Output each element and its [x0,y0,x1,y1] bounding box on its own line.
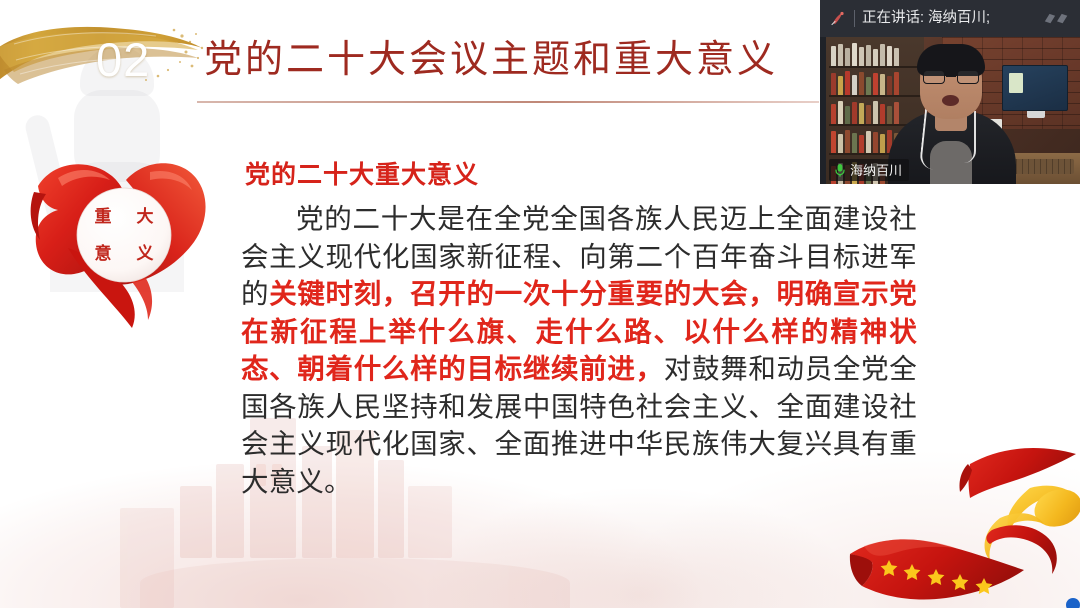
emblem-char-3: 意 [95,245,112,262]
video-call-overlay[interactable]: 正在讲话: 海纳百川; [820,0,1080,184]
video-status-bar: 正在讲话: 海纳百川; [820,0,1080,37]
presentation-slide: 02 党的二十大会议主题和重大意义 [0,0,1080,608]
ribbon-stars [881,560,993,594]
monitor-screen-content [1009,73,1023,93]
lens-right [957,70,979,84]
speaker-mouth [942,95,959,106]
body-paragraph: 党的二十大是在全党全国各族人民迈上全面建设社会主义现代化国家新征程、向第二个百年… [241,200,917,500]
page-title: 党的二十大会议主题和重大意义 [204,36,778,85]
video-feed[interactable]: 海纳百川 [826,37,1080,184]
microphone-icon [833,163,846,178]
emblem-char-4: 义 [137,245,154,262]
heart-ribbon-emblem: 重 大 意 义 [28,152,226,338]
chevron-pair-icon[interactable] [1038,9,1072,29]
emblem-char-1: 重 [95,208,112,225]
status-bar-divider [854,10,855,27]
section-number: 02 [96,36,150,83]
participant-name-chip: 海纳百川 [829,159,909,181]
eyeglasses [923,70,979,85]
participant-name-label: 海纳百川 [850,164,902,177]
speaking-status-label: 正在讲话: 海纳百川; [862,11,1031,26]
emblem-char-2: 大 [137,208,154,225]
title-divider [197,101,819,103]
lens-left [923,70,945,84]
emblem-characters: 重 大 意 义 [82,198,166,272]
speaking-indicator-icon [828,9,847,28]
glasses-bridge [946,75,956,77]
body-subheading: 党的二十大重大意义 [245,160,479,190]
computer-monitor [1002,65,1068,111]
